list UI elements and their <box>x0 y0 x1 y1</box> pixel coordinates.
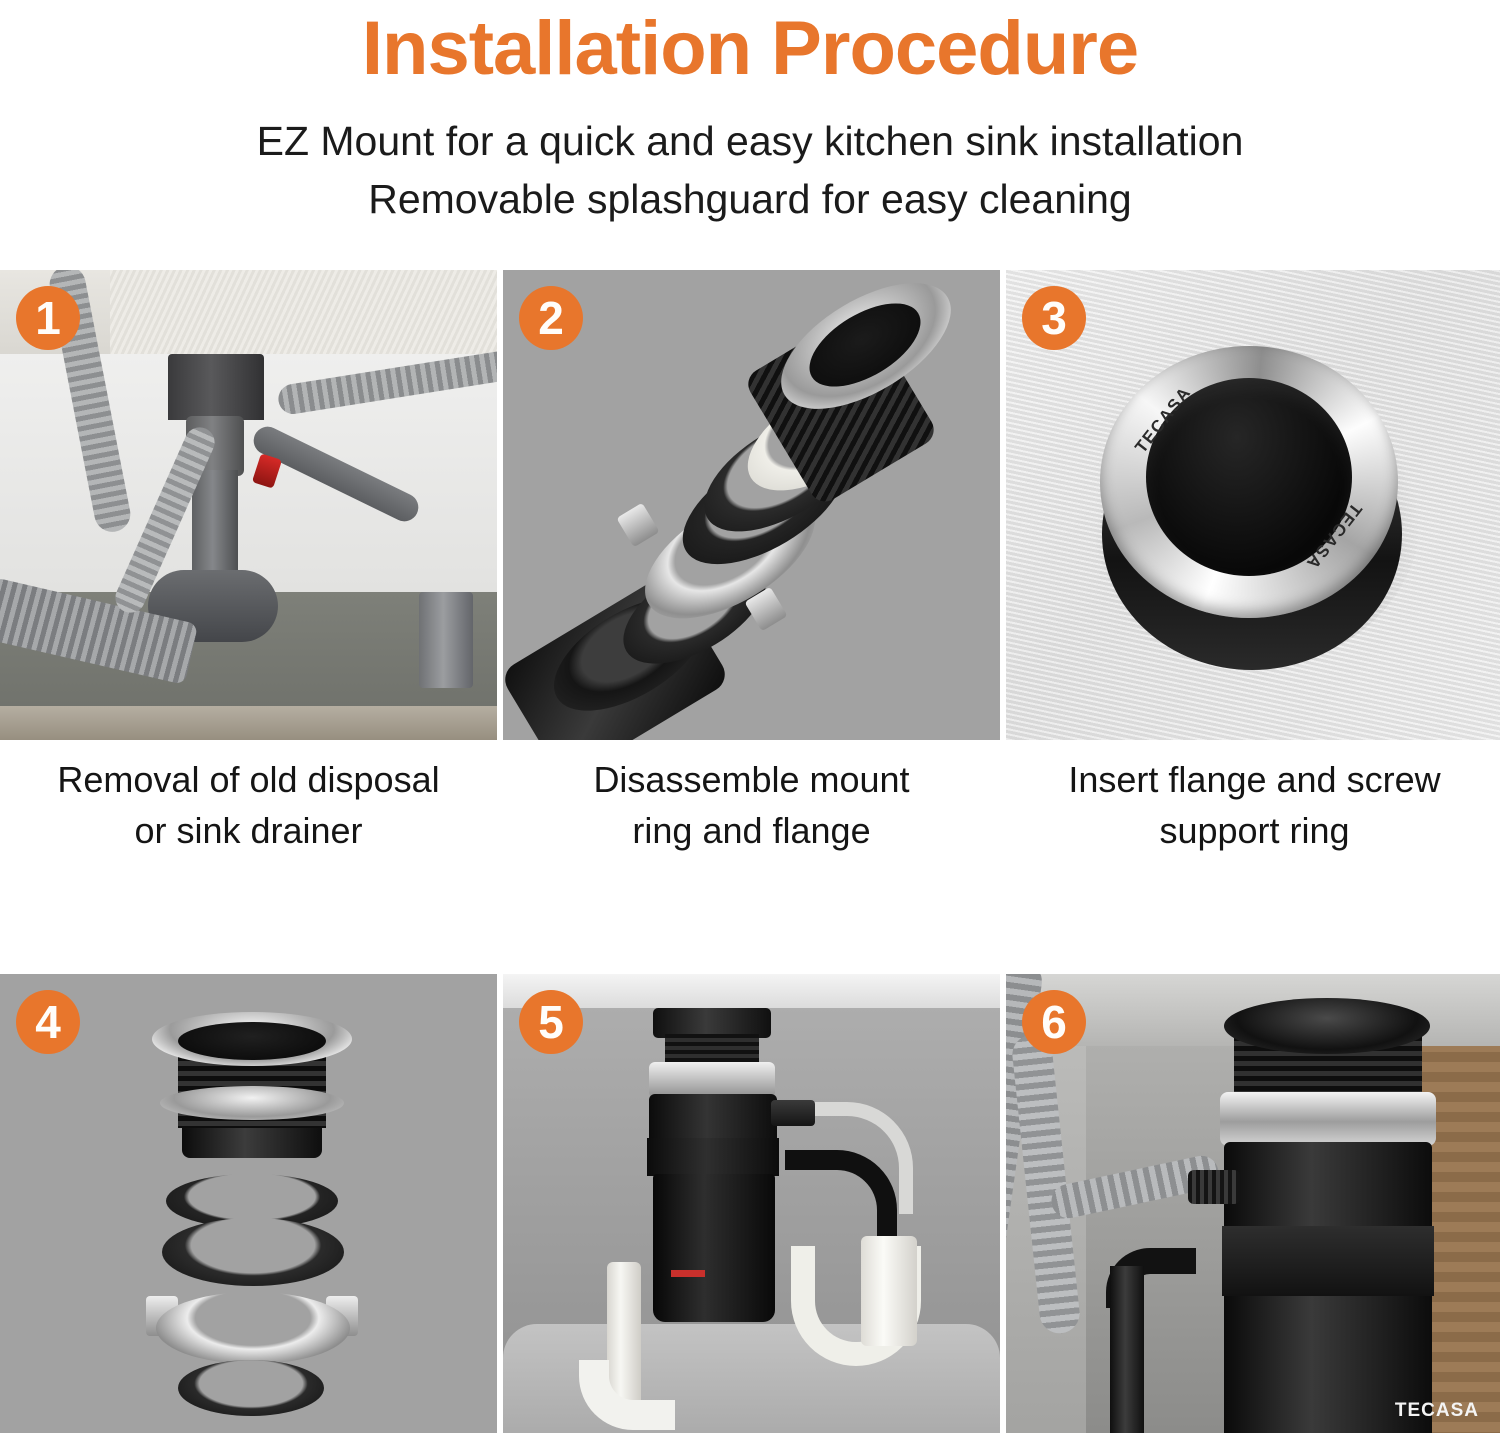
step-caption-2: Disassemble mount ring and flange <box>503 754 1000 856</box>
subtitle-block: EZ Mount for a quick and easy kitchen si… <box>0 112 1500 228</box>
step-card-2: 2 Disassemble mount ring and flange <box>503 270 1000 856</box>
header: Installation Procedure EZ Mount for a qu… <box>0 0 1500 228</box>
steps-grid: 1 Removal of old disposal or sink draine… <box>0 270 1500 1433</box>
step-image-5: 5 <box>503 974 1000 1433</box>
scene-exploded-assembly-vertical <box>0 974 497 1433</box>
step-card-4: 4 Place mount ring and cushion mount <box>0 974 497 1433</box>
step-image-3: TECASA TECASA 3 <box>1006 270 1500 740</box>
step-image-4: 4 <box>0 974 497 1433</box>
scene-exploded-assembly-diagonal <box>503 270 1000 740</box>
step-image-1: 1 <box>0 270 497 740</box>
scene-under-sink-plumbing <box>0 270 497 740</box>
subtitle-line-1: EZ Mount for a quick and easy kitchen si… <box>0 112 1500 170</box>
step-number-badge-3: 3 <box>1022 286 1086 350</box>
scene-flange-in-sink: TECASA TECASA <box>1006 270 1500 740</box>
step-number-badge-4: 4 <box>16 990 80 1054</box>
step-card-1: 1 Removal of old disposal or sink draine… <box>0 270 497 856</box>
step-card-5: 5 Attach disposal unit to flange <box>503 974 1000 1433</box>
step-image-6: TECASA 6 <box>1006 974 1500 1433</box>
subtitle-line-2: Removable splashguard for easy cleaning <box>0 170 1500 228</box>
installation-procedure-infographic: Installation Procedure EZ Mount for a qu… <box>0 0 1500 1433</box>
step-card-3: TECASA TECASA 3 Insert flange and screw … <box>1006 270 1500 856</box>
scene-disposal-drain-connection: TECASA <box>1006 974 1500 1433</box>
step-image-2: 2 <box>503 270 1000 740</box>
scene-disposal-with-p-trap <box>503 974 1000 1433</box>
step-card-6: TECASA 6 Connect drain line <box>1006 974 1500 1433</box>
step-caption-1: Removal of old disposal or sink drainer <box>0 754 497 856</box>
step-number-badge-1: 1 <box>16 286 80 350</box>
disposal-brand-label: TECASA <box>1395 1400 1479 1422</box>
step-caption-3: Insert flange and screw support ring <box>1006 754 1500 856</box>
step-number-badge-2: 2 <box>519 286 583 350</box>
step-number-badge-5: 5 <box>519 990 583 1054</box>
step-number-badge-6: 6 <box>1022 990 1086 1054</box>
page-title: Installation Procedure <box>0 2 1500 96</box>
